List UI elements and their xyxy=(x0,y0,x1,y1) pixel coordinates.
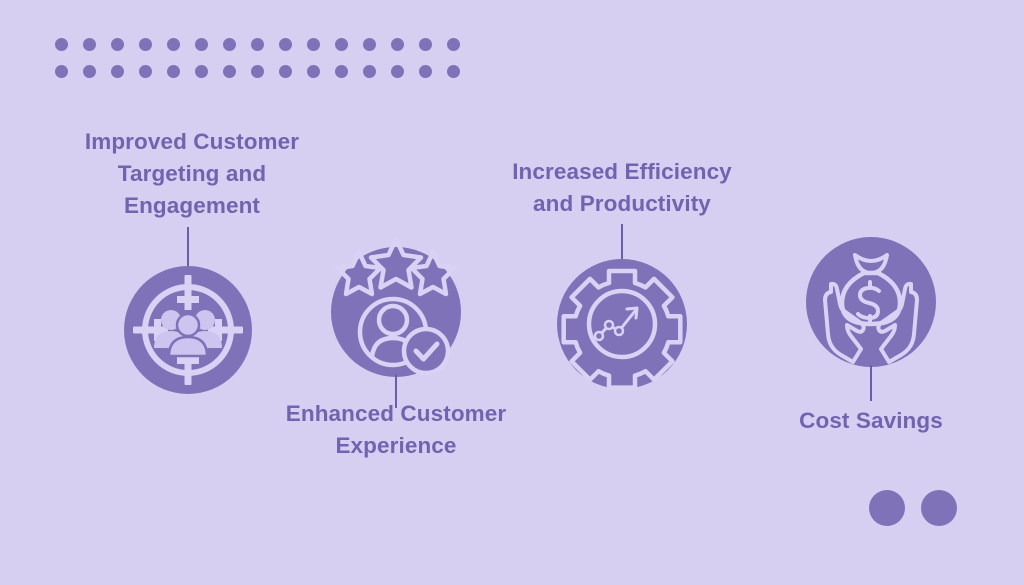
grid-dot xyxy=(195,65,208,78)
grid-dot xyxy=(195,38,208,51)
grid-dot xyxy=(167,38,180,51)
grid-dot xyxy=(139,38,152,51)
grid-dot xyxy=(447,38,460,51)
target-people-icon xyxy=(124,266,252,394)
item-label-increased-efficiency: Increased Efficiency and Productivity xyxy=(478,156,766,220)
connector-stem xyxy=(870,365,872,401)
dot-pair xyxy=(869,490,957,526)
grid-dot xyxy=(363,65,376,78)
grid-dot xyxy=(363,38,376,51)
grid-dot xyxy=(251,38,264,51)
grid-dot xyxy=(251,65,264,78)
grid-dot xyxy=(139,65,152,78)
gear-growth-chart-icon xyxy=(557,259,687,389)
grid-dot xyxy=(419,65,432,78)
customer-rating-stars-icon xyxy=(331,247,461,377)
accent-dot xyxy=(921,490,957,526)
grid-dot xyxy=(447,65,460,78)
grid-dot xyxy=(307,38,320,51)
grid-dot xyxy=(167,65,180,78)
grid-dot xyxy=(335,38,348,51)
grid-dot xyxy=(83,38,96,51)
grid-dot xyxy=(335,65,348,78)
grid-dot xyxy=(223,38,236,51)
grid-dot xyxy=(111,38,124,51)
grid-dot xyxy=(279,38,292,51)
item-label-enhanced-customer-experience: Enhanced Customer Experience xyxy=(252,398,540,462)
infographic-canvas: Improved Customer Targeting and Engageme… xyxy=(0,0,1024,585)
grid-dot xyxy=(55,38,68,51)
dot-grid xyxy=(55,38,475,92)
grid-dot xyxy=(55,65,68,78)
grid-dot xyxy=(419,38,432,51)
item-label-cost-savings: Cost Savings xyxy=(746,405,996,437)
accent-dot xyxy=(869,490,905,526)
connector-stem xyxy=(621,224,623,264)
grid-dot xyxy=(83,65,96,78)
grid-dot xyxy=(307,65,320,78)
hands-money-bag-icon xyxy=(806,237,936,367)
item-label-improved-customer-targeting: Improved Customer Targeting and Engageme… xyxy=(48,126,336,222)
grid-dot xyxy=(391,65,404,78)
grid-dot xyxy=(391,38,404,51)
grid-dot xyxy=(279,65,292,78)
connector-stem xyxy=(187,227,189,269)
grid-dot xyxy=(223,65,236,78)
grid-dot xyxy=(111,65,124,78)
